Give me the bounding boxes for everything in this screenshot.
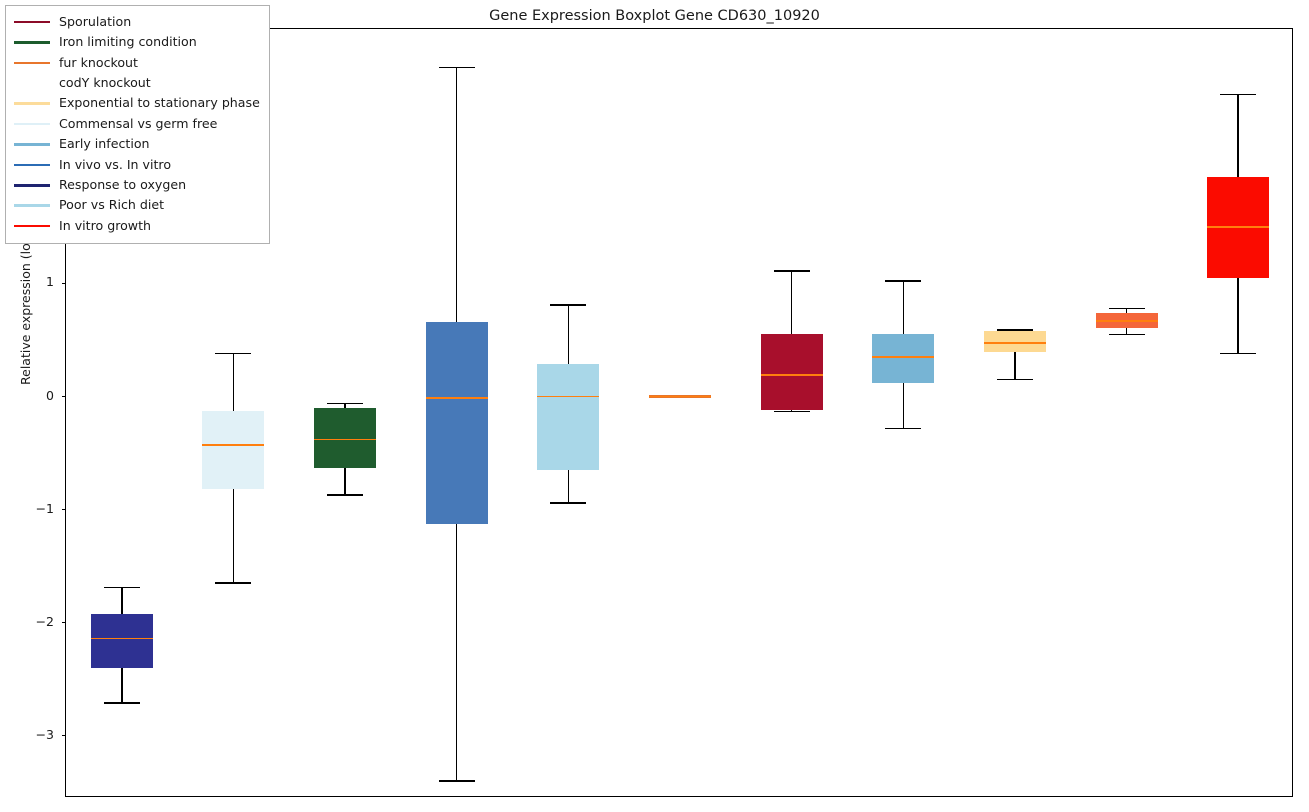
legend-item[interactable]: codY knockout — [14, 73, 260, 93]
median-line — [314, 439, 376, 441]
legend-item[interactable]: Early infection — [14, 134, 260, 154]
legend-item-label: Exponential to stationary phase — [59, 97, 260, 110]
boxplot-box[interactable] — [426, 29, 488, 798]
box-body[interactable] — [426, 322, 488, 524]
legend-item-label: Commensal vs germ free — [59, 118, 217, 131]
legend-item-label: Iron limiting condition — [59, 36, 197, 49]
box-body[interactable] — [537, 364, 599, 470]
legend-color-swatch — [14, 123, 50, 126]
legend-color-swatch — [14, 41, 50, 44]
cap-lower — [1220, 353, 1256, 354]
box-body[interactable] — [872, 334, 934, 383]
median-line — [872, 356, 934, 358]
median-line — [984, 342, 1046, 344]
whisker-lower — [233, 489, 234, 583]
whisker-lower — [456, 524, 457, 781]
legend-item[interactable]: fur knockout — [14, 53, 260, 73]
legend-item[interactable]: Poor vs Rich diet — [14, 196, 260, 216]
legend-item[interactable]: Sporulation — [14, 12, 260, 32]
median-line — [91, 638, 153, 640]
box-body[interactable] — [91, 614, 153, 668]
median-line — [649, 396, 711, 398]
whisker-upper — [121, 588, 122, 614]
cap-lower — [215, 582, 251, 583]
cap-upper — [104, 587, 140, 588]
cap-upper — [1109, 308, 1145, 309]
y-axis-label: Relative expression (log2) — [18, 222, 33, 385]
legend-item[interactable]: Iron limiting condition — [14, 32, 260, 52]
cap-upper — [439, 67, 475, 68]
legend-color-swatch — [14, 62, 50, 65]
cap-lower — [327, 494, 363, 495]
legend-item-label: Poor vs Rich diet — [59, 199, 164, 212]
whisker-lower — [121, 668, 122, 703]
y-tick-label: −3 — [36, 727, 54, 742]
cap-lower — [1109, 334, 1145, 335]
whisker-lower — [1014, 352, 1015, 379]
whisker-upper — [791, 271, 792, 334]
cap-lower — [104, 702, 140, 703]
legend: SporulationIron limiting conditionfur kn… — [5, 5, 270, 244]
box-body[interactable] — [202, 411, 264, 489]
whisker-upper — [568, 305, 569, 364]
legend-item-label: codY knockout — [59, 77, 151, 90]
cap-upper — [215, 353, 251, 354]
y-tick-label: −1 — [36, 501, 54, 516]
boxplot-box[interactable] — [872, 29, 934, 798]
whisker-lower — [1237, 278, 1238, 354]
boxplot-box[interactable] — [984, 29, 1046, 798]
boxplot-box[interactable] — [1207, 29, 1269, 798]
legend-color-swatch — [14, 204, 50, 207]
median-line — [761, 374, 823, 376]
y-tick-label: 0 — [46, 388, 54, 403]
box-body[interactable] — [761, 334, 823, 410]
legend-item[interactable]: Response to oxygen — [14, 175, 260, 195]
boxplot-box[interactable] — [1096, 29, 1158, 798]
whisker-lower — [344, 468, 345, 495]
cap-lower — [885, 428, 921, 429]
cap-upper — [774, 270, 810, 271]
legend-item-label: fur knockout — [59, 57, 138, 70]
legend-color-swatch — [14, 102, 50, 105]
cap-lower — [774, 411, 810, 412]
legend-item[interactable]: In vivo vs. In vitro — [14, 155, 260, 175]
boxplot-box[interactable] — [761, 29, 823, 798]
legend-item[interactable]: In vitro growth — [14, 216, 260, 236]
cap-upper — [1220, 94, 1256, 95]
whisker-lower — [903, 383, 904, 428]
whisker-upper — [456, 67, 457, 321]
cap-upper — [885, 280, 921, 281]
legend-item-label: Early infection — [59, 138, 150, 151]
legend-item[interactable]: Commensal vs germ free — [14, 114, 260, 134]
legend-color-swatch — [14, 164, 50, 167]
median-line — [537, 396, 599, 398]
median-line — [1096, 320, 1158, 322]
legend-item-label: Sporulation — [59, 16, 131, 29]
legend-item-label: In vitro growth — [59, 220, 151, 233]
cap-lower — [550, 502, 586, 503]
boxplot-box[interactable] — [649, 29, 711, 798]
whisker-lower — [568, 470, 569, 503]
cap-lower — [997, 379, 1033, 380]
figure: Gene Expression Boxplot Gene CD630_10920… — [0, 0, 1309, 812]
boxplot-box[interactable] — [314, 29, 376, 798]
cap-upper — [550, 304, 586, 305]
median-line — [426, 397, 488, 399]
legend-color-swatch — [14, 184, 50, 187]
legend-item-label: Response to oxygen — [59, 179, 186, 192]
median-line — [202, 444, 264, 446]
whisker-upper — [1237, 95, 1238, 178]
legend-color-swatch — [14, 21, 50, 24]
whisker-upper — [903, 281, 904, 334]
y-tick-label: −2 — [36, 614, 54, 629]
cap-upper — [327, 403, 363, 404]
median-line — [1207, 226, 1269, 228]
boxplot-box[interactable] — [537, 29, 599, 798]
legend-color-swatch — [14, 82, 50, 85]
cap-lower — [439, 780, 475, 781]
whisker-upper — [233, 354, 234, 412]
legend-color-swatch — [14, 143, 50, 146]
legend-item[interactable]: Exponential to stationary phase — [14, 94, 260, 114]
legend-item-label: In vivo vs. In vitro — [59, 159, 171, 172]
y-tick-label: 1 — [46, 274, 54, 289]
legend-color-swatch — [14, 225, 50, 228]
